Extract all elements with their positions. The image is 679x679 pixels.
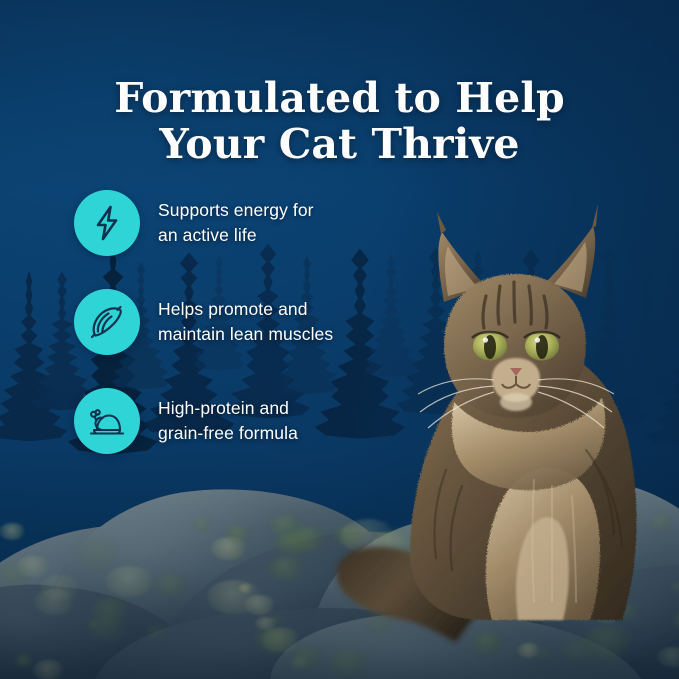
feature-item-muscle: Helps promote and maintain lean muscles bbox=[74, 289, 374, 355]
lightning-bolt-icon bbox=[74, 190, 140, 256]
feature-item-protein: High-protein and grain-free formula bbox=[74, 388, 374, 454]
muscle-bicep-icon bbox=[74, 289, 140, 355]
feature-item-energy: Supports energy for an active life bbox=[74, 190, 374, 256]
product-feature-banner: Formulated to Help Your Cat Thrive Suppo… bbox=[0, 0, 679, 679]
feature-label-muscle: Helps promote and maintain lean muscles bbox=[158, 297, 333, 347]
feature-label-protein: High-protein and grain-free formula bbox=[158, 396, 298, 446]
feature-list: Supports energy for an active life Helps… bbox=[74, 190, 374, 487]
page-title: Formulated to Help Your Cat Thrive bbox=[0, 75, 679, 167]
feature-label-energy: Supports energy for an active life bbox=[158, 198, 314, 248]
roast-chicken-platter-icon bbox=[74, 388, 140, 454]
headline-line-2: Your Cat Thrive bbox=[0, 121, 679, 167]
headline-line-1: Formulated to Help bbox=[114, 74, 565, 122]
